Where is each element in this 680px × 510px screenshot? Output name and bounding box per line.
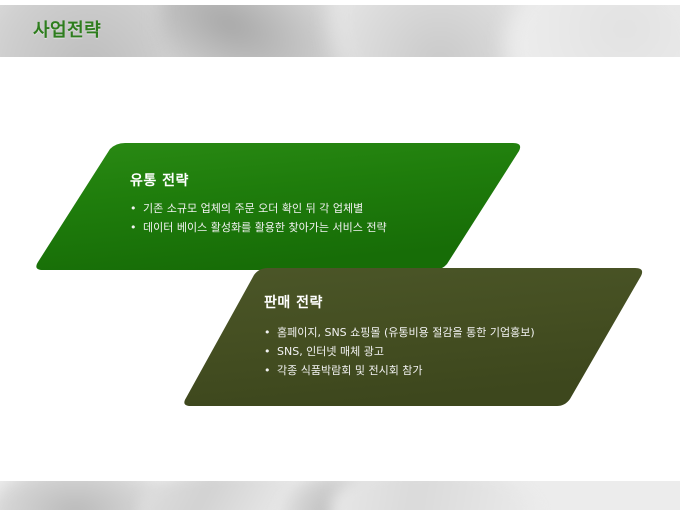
list-item: 데이터 베이스 활성화를 활용한 찾아가는 서비스 전략 (130, 218, 387, 237)
card-sales-content: 판매 전략 홈페이지, SNS 쇼핑몰 (유통비용 절감을 통한 기업홍보) S… (264, 292, 535, 380)
card-distribution-bullet-list: 기존 소규모 업체의 주문 오더 확인 뒤 각 업체별 데이터 베이스 활성화를… (130, 199, 387, 237)
card-distribution-heading: 유통 전략 (130, 170, 387, 190)
card-distribution[interactable]: 유통 전략 기존 소규모 업체의 주문 오더 확인 뒤 각 업체별 데이터 베이… (30, 138, 526, 274)
card-distribution-content: 유통 전략 기존 소규모 업체의 주문 오더 확인 뒤 각 업체별 데이터 베이… (130, 170, 387, 237)
list-item: 기존 소규모 업체의 주문 오더 확인 뒤 각 업체별 (130, 199, 387, 218)
card-sales-heading: 판매 전략 (264, 292, 535, 312)
top-photo-band (0, 5, 680, 57)
bottom-photo-band (0, 481, 680, 510)
card-sales[interactable]: 판매 전략 홈페이지, SNS 쇼핑몰 (유통비용 절감을 통한 기업홍보) S… (178, 263, 648, 411)
list-item: 각종 식품박람회 및 전시회 참가 (264, 361, 535, 380)
band-blur-shape (505, 5, 680, 57)
page-title: 사업전략 (33, 19, 101, 43)
slide-canvas: 사업전략 유통 전략 기존 소규모 업체의 주문 오더 확인 뒤 각 업체별 데… (0, 0, 680, 510)
band-blur-shape (330, 481, 540, 510)
card-sales-bullet-list: 홈페이지, SNS 쇼핑몰 (유통비용 절감을 통한 기업홍보) SNS, 인터… (264, 323, 535, 380)
list-item: SNS, 인터넷 매체 광고 (264, 342, 535, 361)
list-item: 홈페이지, SNS 쇼핑몰 (유통비용 절감을 통한 기업홍보) (264, 323, 535, 342)
